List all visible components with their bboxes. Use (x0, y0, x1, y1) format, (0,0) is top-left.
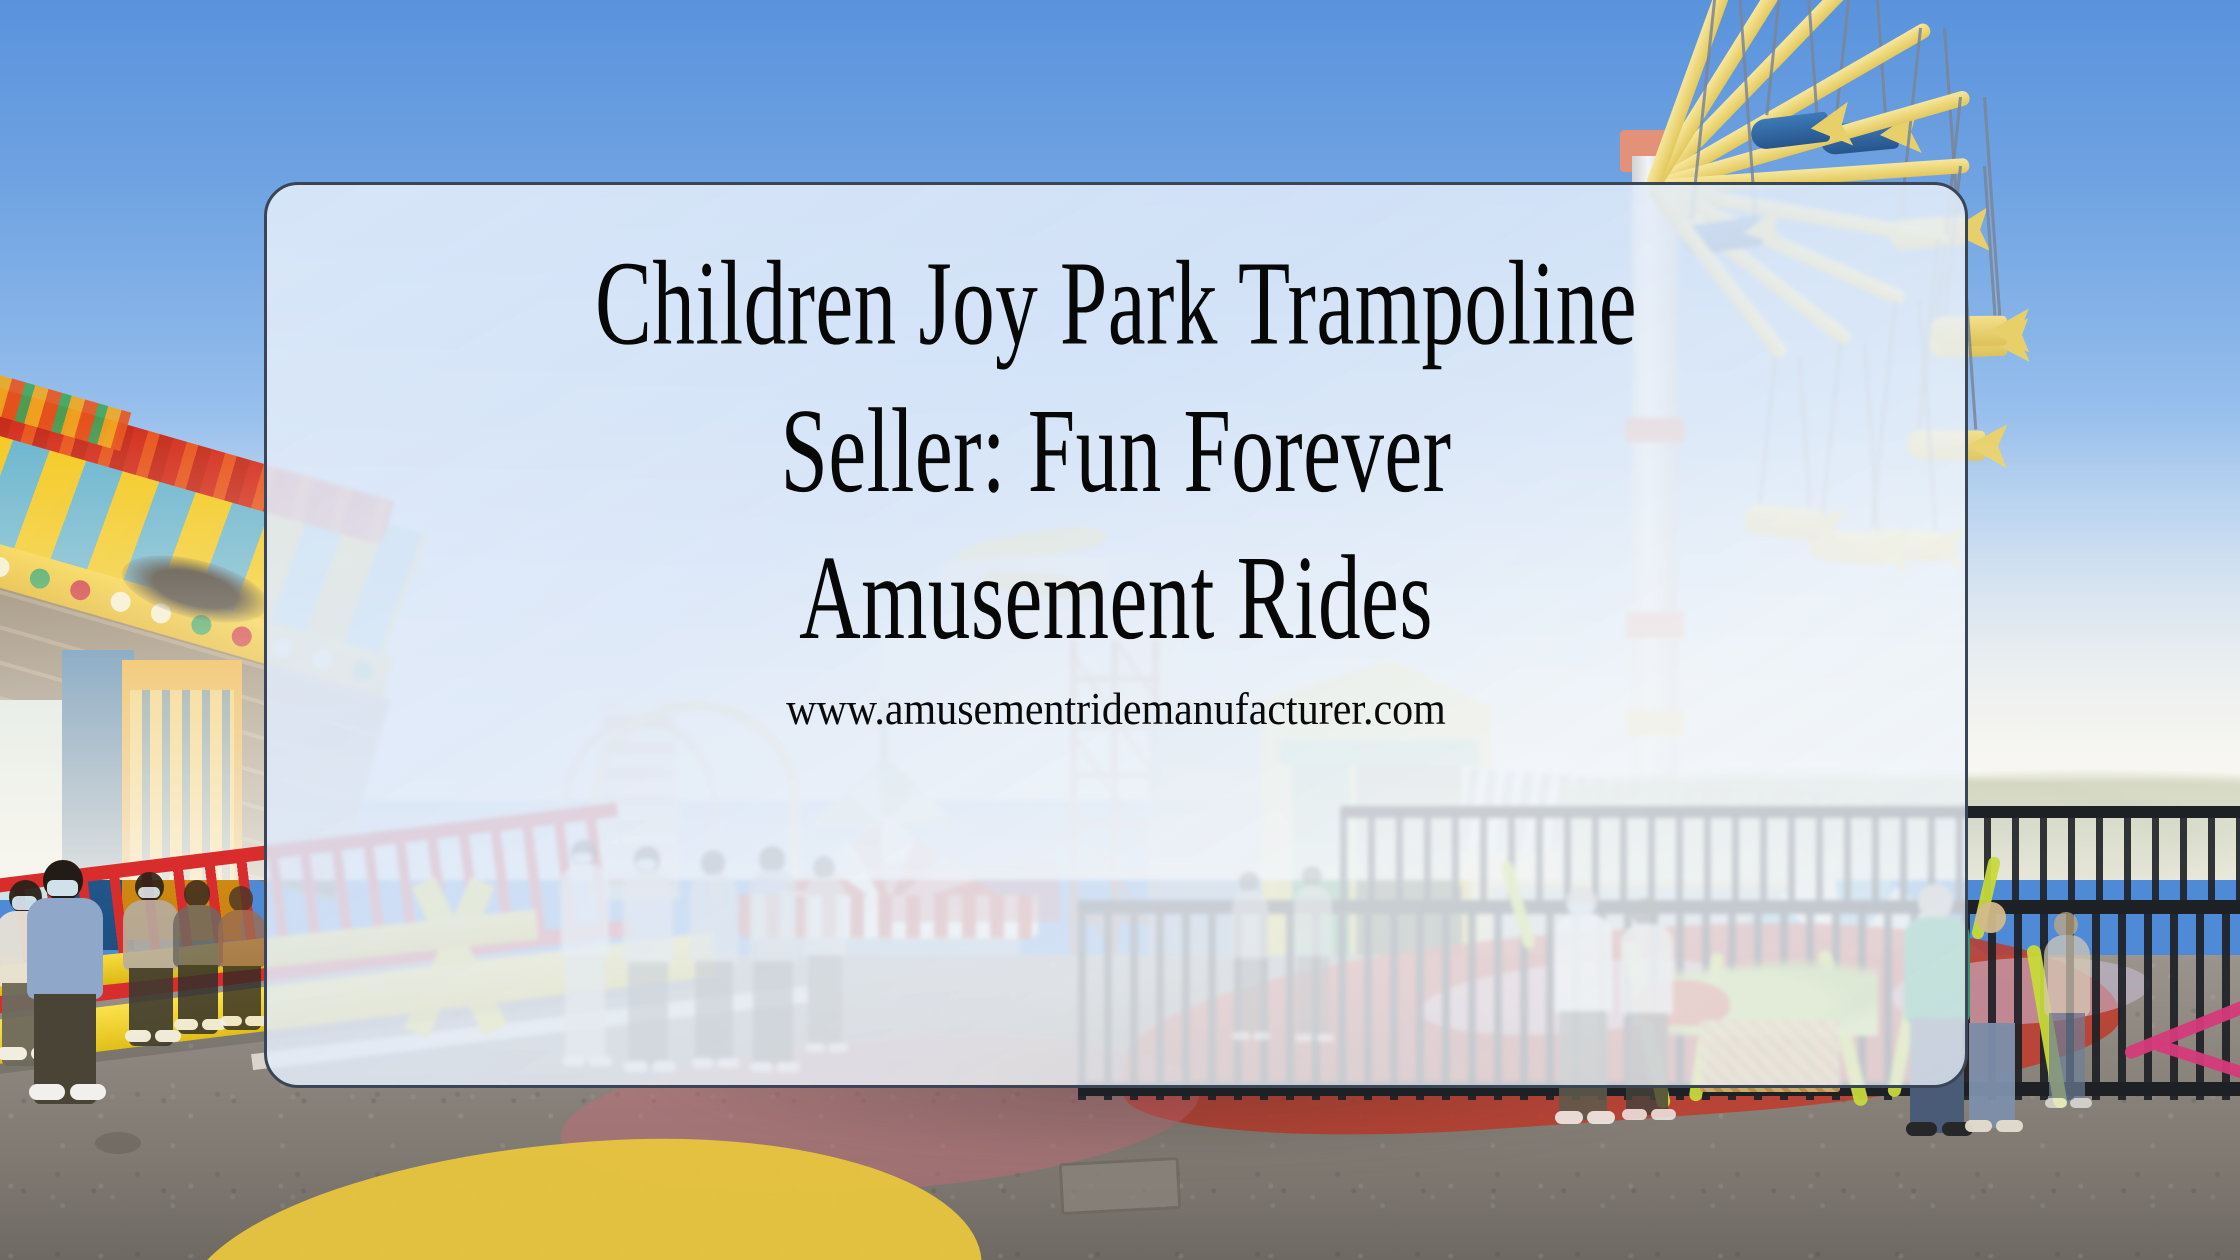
person-shoe (125, 1030, 151, 1042)
title-line-2: Seller: Fun Forever (476, 378, 1755, 525)
person-legs (2049, 1013, 2086, 1103)
page-title: Children Joy Park Trampoline Seller: Fun… (476, 231, 1755, 673)
person-torso (1963, 931, 2020, 1028)
person-shoe (1996, 1120, 2023, 1132)
person (2040, 912, 2094, 1108)
ground-hatch (95, 1132, 141, 1154)
title-line-3: Amusement Rides (476, 525, 1755, 672)
person-shoe (1622, 1109, 1647, 1120)
person-legs (1969, 1023, 2015, 1129)
person-shoe (220, 1016, 242, 1026)
person-shoe (1965, 1120, 1992, 1132)
person-torso (2044, 935, 2089, 1017)
person (214, 886, 270, 1026)
person-head (229, 886, 254, 912)
person-shoe (1651, 1109, 1676, 1120)
person-shoe (2045, 1098, 2067, 1108)
face-mask (138, 887, 160, 899)
person (1958, 902, 2026, 1132)
person-shoe (70, 1084, 106, 1100)
person-torso (218, 910, 265, 969)
ground-hatch (1059, 1157, 1182, 1215)
person (20, 860, 110, 1100)
person-shoe (2070, 1098, 2092, 1108)
website-url: www.amusementridemanufacturer.com (267, 684, 1965, 736)
person-head (1976, 902, 2006, 933)
person-torso (27, 898, 103, 999)
person-shoe (1906, 1122, 1937, 1136)
person-shoe (1555, 1111, 1583, 1124)
title-card: Children Joy Park Trampoline Seller: Fun… (264, 182, 1968, 1088)
person-shoe (155, 1030, 181, 1042)
person-head (184, 880, 210, 908)
face-mask (47, 880, 78, 896)
person-shoe (1587, 1111, 1615, 1124)
person-shoe (29, 1084, 65, 1100)
title-line-1: Children Joy Park Trampoline (476, 231, 1755, 378)
person-head (2054, 912, 2078, 937)
person-shoe (174, 1019, 198, 1030)
